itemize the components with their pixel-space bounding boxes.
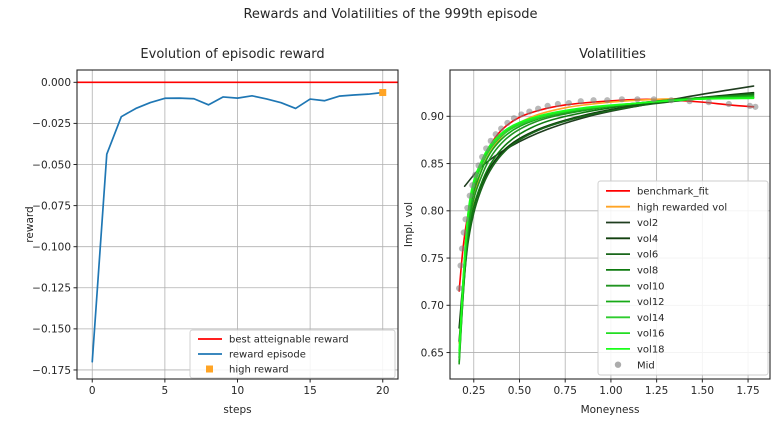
legend-label: vol4 xyxy=(637,234,658,245)
ytick-label: −0.125 xyxy=(32,283,71,295)
scatter-point xyxy=(504,120,510,126)
legend-label: high reward xyxy=(229,365,289,376)
scatter-point xyxy=(493,131,499,137)
ytick-label: −0.100 xyxy=(32,241,71,253)
ytick-label: 0.65 xyxy=(421,347,444,359)
xaxis-label: Moneyness xyxy=(581,404,640,416)
xtick-label: 0 xyxy=(89,385,96,397)
scatter-point xyxy=(651,96,657,102)
scatter-point xyxy=(686,98,692,104)
scatter-point xyxy=(668,97,674,103)
xtick-label: 10 xyxy=(231,385,244,397)
scatter-point xyxy=(590,97,596,103)
legend-label: reward episode xyxy=(229,350,306,361)
legend-dot-swatch xyxy=(615,362,621,368)
right-plot-title: Volatilities xyxy=(440,47,781,62)
scatter-point xyxy=(483,145,489,151)
legend-label: vol18 xyxy=(637,345,665,356)
xtick-label: 0.25 xyxy=(462,385,485,397)
left-plot-title: Evolution of episodic reward xyxy=(60,47,405,62)
legend-label: vol12 xyxy=(637,297,665,308)
legend-label: vol10 xyxy=(637,281,665,292)
xtick-label: 1.25 xyxy=(645,385,668,397)
ytick-label: −0.025 xyxy=(32,118,71,130)
scatter-point xyxy=(498,125,504,131)
legend-right-plot: benchmark_fithigh rewarded volvol2vol4vo… xyxy=(598,181,768,375)
xtick-label: 5 xyxy=(162,385,169,397)
xaxis-label: steps xyxy=(223,404,251,416)
ytick-label: −0.075 xyxy=(32,200,71,212)
scatter-point xyxy=(578,98,584,104)
xtick-label: 15 xyxy=(303,385,316,397)
legend-label: vol16 xyxy=(637,329,665,340)
matplotlib-figure: Rewards and Volatilities of the 999th ep… xyxy=(0,0,781,441)
scatter-point xyxy=(752,104,758,110)
scatter-point xyxy=(469,182,475,188)
legend-label: vol2 xyxy=(637,218,658,229)
scatter-point xyxy=(464,205,470,211)
scatter-point xyxy=(462,216,468,222)
scatter-point xyxy=(526,108,532,114)
scatter-point xyxy=(467,193,473,199)
scatter-point xyxy=(545,103,551,109)
xtick-label: 0.50 xyxy=(508,385,531,397)
scatter-point xyxy=(604,97,610,103)
scatter-point xyxy=(511,115,517,121)
xtick-label: 1.50 xyxy=(691,385,714,397)
ytick-label: 0.80 xyxy=(421,206,444,218)
scatter-point xyxy=(458,263,464,269)
scatter-point xyxy=(472,172,478,178)
legend-label: Mid xyxy=(637,360,655,371)
scatter-point xyxy=(726,101,732,107)
scatter-point xyxy=(459,245,465,251)
legend-label: benchmark_fit xyxy=(637,187,709,198)
scatter-point xyxy=(747,103,753,109)
ytick-label: 0.000 xyxy=(41,77,71,89)
series-high-reward xyxy=(379,89,386,96)
yaxis-label: Impl. vol xyxy=(403,202,415,247)
ytick-label: 0.90 xyxy=(421,111,444,123)
scatter-point xyxy=(456,285,462,291)
scatter-point xyxy=(461,229,467,235)
ytick-label: 0.85 xyxy=(421,158,444,170)
scatter-point xyxy=(566,100,572,106)
scatter-point xyxy=(619,96,625,102)
ytick-label: −0.150 xyxy=(32,324,71,336)
figure-suptitle: Rewards and Volatilities of the 999th ep… xyxy=(0,7,781,22)
legend-label: vol14 xyxy=(637,313,665,324)
scatter-point xyxy=(518,111,524,117)
scatter-point xyxy=(475,162,481,168)
legend-label: high rewarded vol xyxy=(637,202,727,213)
ytick-label: −0.175 xyxy=(32,365,71,377)
xtick-label: 20 xyxy=(376,385,389,397)
legend-square-swatch xyxy=(206,366,213,373)
scatter-point xyxy=(535,106,541,112)
scatter-point xyxy=(488,138,494,144)
ytick-label: −0.050 xyxy=(32,159,71,171)
scatter-point xyxy=(706,99,712,105)
legend-left-plot: best atteignable rewardreward episodehig… xyxy=(190,330,395,378)
legend-label: vol8 xyxy=(637,266,658,277)
ytick-label: 0.75 xyxy=(421,253,444,265)
xtick-label: 1.75 xyxy=(736,385,759,397)
plots-canvas: 051015200.000−0.025−0.050−0.075−0.100−0.… xyxy=(0,0,781,441)
yaxis-label: reward xyxy=(24,206,36,242)
xtick-label: 1.00 xyxy=(599,385,622,397)
scatter-point xyxy=(634,96,640,102)
scatter-point xyxy=(555,101,561,107)
legend-label: best atteignable reward xyxy=(229,335,349,346)
scatter-point xyxy=(479,154,485,160)
ytick-label: 0.70 xyxy=(421,300,444,312)
legend-label: vol6 xyxy=(637,250,658,261)
xtick-label: 0.75 xyxy=(554,385,577,397)
